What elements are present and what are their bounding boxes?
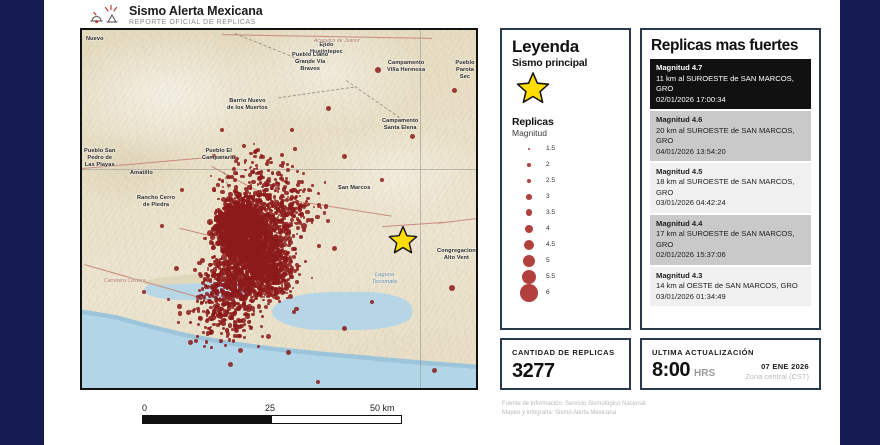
seismic-station-icon <box>88 4 122 28</box>
last-update-panel: ULTIMA ACTUALIZACIÓN 8:00 HRS 07 ENE 202… <box>640 338 821 390</box>
event-magnitude: Magnitud 4.7 <box>656 63 805 73</box>
legend-magnitude-row: 5 <box>512 253 619 269</box>
left-navy-rail <box>0 0 44 445</box>
legend-magnitude-value: 3 <box>546 193 550 200</box>
event-location: 20 km al SUROESTE de SAN MARCOS, GRO <box>656 126 805 147</box>
strongest-aftershocks-panel: Replicas mas fuertes Magnitud 4.711 km a… <box>640 28 821 330</box>
scale-tick-50: 50 km <box>370 403 395 413</box>
event-magnitude: Magnitud 4.6 <box>656 115 805 125</box>
infographic-root: Sismo Alerta Mexicana REPORTE OFICIAL DE… <box>0 0 880 445</box>
event-datetime: 04/01/2026 13:54:20 <box>656 147 805 157</box>
legend-magnitude-value: 2 <box>546 161 550 168</box>
legend-replicas-title: Replicas <box>512 116 619 128</box>
event-datetime: 02/01/2026 17:00:34 <box>656 95 805 105</box>
legend-magnitude-dot <box>522 270 537 285</box>
legend-magnitude-dot <box>525 225 533 233</box>
legend-magnitude-row: 5.5 <box>512 269 619 285</box>
legend-magnitude-dot <box>527 163 530 166</box>
replica-count-panel: CANTIDAD DE REPLICAS 3277 <box>500 338 631 390</box>
legend-magnitude-value: 4 <box>546 225 550 232</box>
last-update-date: 07 ENE 2026 <box>745 362 809 372</box>
legend-magnitude-dot <box>520 284 538 302</box>
legend-magnitude-label: Magnitud <box>512 128 619 138</box>
event-magnitude: Magnitud 4.5 <box>656 167 805 177</box>
legend-magnitude-row: 4.5 <box>512 237 619 253</box>
legend-panel: Leyenda Sismo principal Replicas Magnitu… <box>500 28 631 330</box>
scale-bar-graphic <box>142 415 402 424</box>
strongest-event-item[interactable]: Magnitud 4.711 km al SUROESTE de SAN MAR… <box>650 59 811 109</box>
legend-magnitude-row: 4 <box>512 221 619 237</box>
legend-magnitude-dot <box>527 179 531 183</box>
legend-title: Leyenda <box>512 38 619 56</box>
scale-bar-ticks: 0 25 50 km <box>142 403 414 414</box>
brand-subtitle: REPORTE OFICIAL DE REPLICAS <box>129 19 263 26</box>
map-canvas: NuevoEjido HuajintepecPueblo Llano Grand… <box>82 30 476 388</box>
replica-count-value: 3277 <box>512 360 619 383</box>
source-line-1: Fuente de información: Servicio Sismológ… <box>502 400 647 409</box>
scale-tick-25: 25 <box>265 403 275 413</box>
strongest-event-list: Magnitud 4.711 km al SUROESTE de SAN MAR… <box>650 59 811 306</box>
legend-magnitude-row: 1.5 <box>512 141 619 157</box>
last-update-time: 8:00 <box>652 359 690 382</box>
legend-star-icon <box>516 71 619 110</box>
legend-magnitude-dot <box>524 240 534 250</box>
legend-magnitude-value: 1.5 <box>546 145 555 152</box>
legend-magnitude-row: 2.5 <box>512 173 619 189</box>
main-quake-star-icon <box>388 225 418 255</box>
last-update-label: ULTIMA ACTUALIZACIÓN <box>652 348 809 357</box>
right-navy-rail <box>840 0 880 445</box>
header: Sismo Alerta Mexicana REPORTE OFICIAL DE… <box>44 0 840 31</box>
event-magnitude: Magnitud 4.3 <box>656 271 805 281</box>
event-datetime: 03/01/2026 04:42:24 <box>656 198 805 208</box>
brand-title: Sismo Alerta Mexicana <box>129 5 263 18</box>
scale-bar: 0 25 50 km <box>142 403 414 429</box>
legend-main-quake-label: Sismo principal <box>512 57 619 69</box>
event-location: 14 km al OESTE de SAN MARCOS, GRO <box>656 281 805 291</box>
last-update-timezone: Zona central (CST) <box>745 372 809 382</box>
legend-magnitude-value: 6 <box>546 289 550 296</box>
event-location: 11 km al SUROESTE de SAN MARCOS, GRO <box>656 74 805 95</box>
legend-magnitude-value: 5 <box>546 257 550 264</box>
strongest-event-item[interactable]: Magnitud 4.314 km al OESTE de SAN MARCOS… <box>650 267 811 306</box>
legend-magnitude-row: 3.5 <box>512 205 619 221</box>
event-location: 17 km al SUROESTE de SAN MARCOS, GRO <box>656 229 805 250</box>
scale-tick-0: 0 <box>142 403 147 413</box>
event-location: 18 km al SUROESTE de SAN MARCOS, GRO <box>656 177 805 198</box>
strongest-title: Replicas mas fuertes <box>651 38 811 54</box>
event-datetime: 03/01/2026 01:34:49 <box>656 292 805 302</box>
strongest-event-item[interactable]: Magnitud 4.620 km al SUROESTE de SAN MAR… <box>650 111 811 161</box>
event-datetime: 02/01/2026 15:37:06 <box>656 250 805 260</box>
event-magnitude: Magnitud 4.4 <box>656 219 805 229</box>
legend-magnitude-value: 2.5 <box>546 177 555 184</box>
last-update-row: 8:00 HRS 07 ENE 2026 Zona central (CST) <box>652 359 809 382</box>
source-credits: Fuente de información: Servicio Sismológ… <box>502 400 647 418</box>
legend-magnitude-row: 6 <box>512 285 619 301</box>
legend-magnitude-dot <box>523 255 535 267</box>
legend-magnitude-dot <box>526 194 532 200</box>
legend-magnitude-row: 2 <box>512 157 619 173</box>
strongest-event-item[interactable]: Magnitud 4.417 km al SUROESTE de SAN MAR… <box>650 215 811 265</box>
legend-magnitude-value: 5.5 <box>546 273 555 280</box>
last-update-unit: HRS <box>694 368 715 379</box>
legend-magnitude-value: 4.5 <box>546 241 555 248</box>
legend-magnitude-value: 3.5 <box>546 209 555 216</box>
source-line-2: Mapeo y infografía: Sismo Alerta Mexican… <box>502 409 647 418</box>
legend-magnitude-row: 3 <box>512 189 619 205</box>
legend-magnitude-dot <box>528 148 531 151</box>
legend-magnitude-scale: 1.522.533.544.555.56 <box>512 141 619 301</box>
legend-magnitude-dot <box>526 209 533 216</box>
replica-count-label: CANTIDAD DE REPLICAS <box>512 348 619 357</box>
strongest-event-item[interactable]: Magnitud 4.518 km al SUROESTE de SAN MAR… <box>650 163 811 213</box>
map-panel[interactable]: NuevoEjido HuajintepecPueblo Llano Grand… <box>80 28 478 390</box>
aftershock-swarm <box>82 30 476 388</box>
